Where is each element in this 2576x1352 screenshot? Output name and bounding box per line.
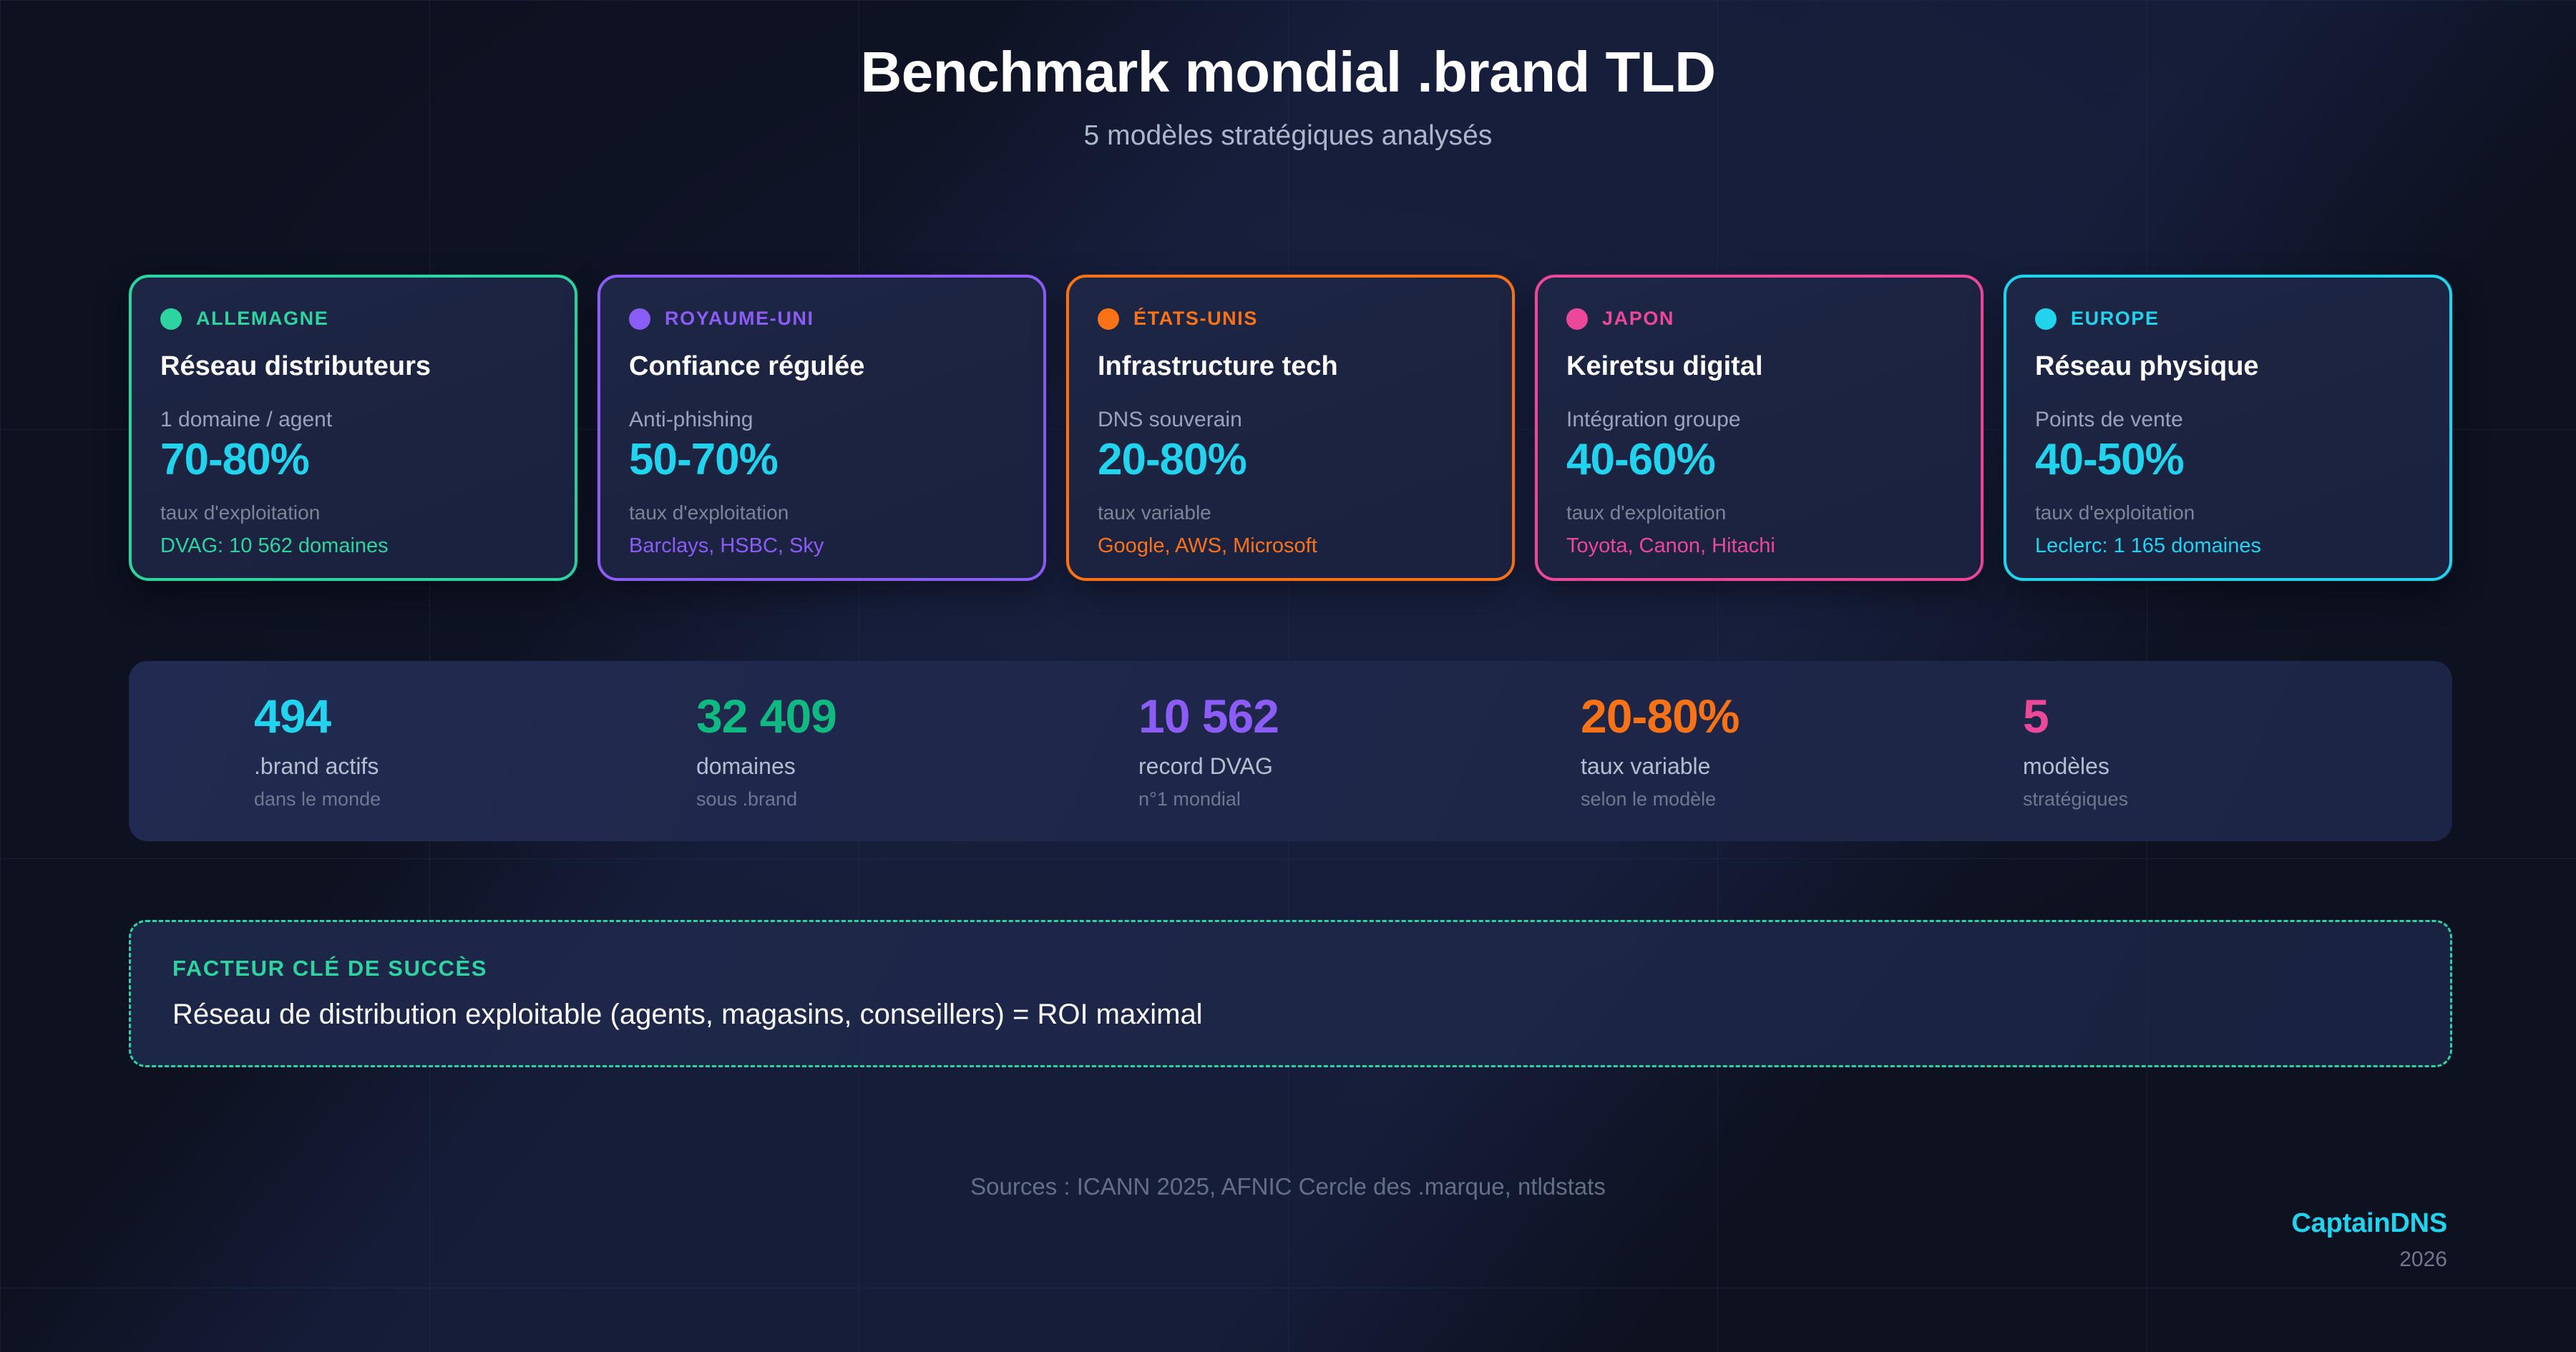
stat-modeles: 5 modèles stratégiques [2023,692,2465,810]
stat-taux-variable: 20-80% taux variable selon le modèle [1581,692,2023,810]
card-country-label: JAPON [1602,308,1674,330]
status-dot-icon [2035,308,2057,330]
sources-note: Sources : ICANN 2025, AFNIC Cercle des .… [0,1173,2576,1200]
country-card-japon[interactable]: JAPON Keiretsu digital Intégration group… [1535,275,1984,581]
stat-sublabel: dans le monde [254,789,696,810]
card-country-label: ÉTATS-UNIS [1133,308,1258,330]
stat-label: domaines [696,754,1138,779]
card-title: Réseau physique [2035,351,2421,382]
page-subtitle: 5 modèles stratégiques analysés [0,120,2576,152]
card-title: Réseau distributeurs [160,351,546,382]
card-subtitle: DNS souverain [1098,408,1483,433]
status-dot-icon [1098,308,1119,330]
card-country-label: ALLEMAGNE [196,308,328,330]
stat-domaines: 32 409 domaines sous .brand [696,692,1138,810]
card-examples: Google, AWS, Microsoft [1098,534,1483,558]
card-examples: DVAG: 10 562 domaines [160,534,546,558]
stat-value: 10 562 [1138,692,1581,740]
stat-value: 20-80% [1581,692,2023,740]
card-header: ALLEMAGNE [160,308,546,330]
stat-sublabel: stratégiques [2023,789,2465,810]
country-cards-row: ALLEMAGNE Réseau distributeurs 1 domaine… [129,275,2452,581]
key-success-factor-box: FACTEUR CLÉ DE SUCCÈS Réseau de distribu… [129,920,2452,1067]
card-title: Infrastructure tech [1098,351,1483,382]
card-examples: Barclays, HSBC, Sky [629,534,1015,558]
country-card-etats-unis[interactable]: ÉTATS-UNIS Infrastructure tech DNS souve… [1066,275,1515,581]
card-country-label: EUROPE [2071,308,2160,330]
key-factor-text: Réseau de distribution exploitable (agen… [172,997,2409,1032]
page-title: Benchmark mondial .brand TLD [0,41,2576,103]
stat-sublabel: sous .brand [696,789,1138,810]
infographic-page: Benchmark mondial .brand TLD 5 modèles s… [0,0,2576,1352]
card-metric-label: taux d'exploitation [160,501,546,524]
card-metric-label: taux variable [1098,501,1483,524]
card-header: EUROPE [2035,308,2421,330]
brand-year: 2026 [2291,1248,2447,1271]
card-title: Keiretsu digital [1566,351,1952,382]
stat-sublabel: n°1 mondial [1138,789,1581,810]
card-metric-label: taux d'exploitation [2035,501,2421,524]
country-card-royaume-uni[interactable]: ROYAUME-UNI Confiance régulée Anti-phish… [597,275,1046,581]
card-country-label: ROYAUME-UNI [665,308,814,330]
card-header: ÉTATS-UNIS [1098,308,1483,330]
status-dot-icon [160,308,182,330]
card-subtitle: Anti-phishing [629,408,1015,433]
card-subtitle: Intégration groupe [1566,408,1952,433]
stat-label: .brand actifs [254,754,696,779]
header: Benchmark mondial .brand TLD 5 modèles s… [0,41,2576,152]
card-header: JAPON [1566,308,1952,330]
card-metric-value: 70-80% [160,436,546,483]
stat-label: record DVAG [1138,754,1581,779]
stat-value: 494 [254,692,696,740]
card-metric-value: 40-50% [2035,436,2421,483]
card-header: ROYAUME-UNI [629,308,1015,330]
card-metric-value: 50-70% [629,436,1015,483]
status-dot-icon [629,308,650,330]
card-examples: Toyota, Canon, Hitachi [1566,534,1952,558]
stat-sublabel: selon le modèle [1581,789,2023,810]
status-dot-icon [1566,308,1588,330]
card-title: Confiance régulée [629,351,1015,382]
country-card-allemagne[interactable]: ALLEMAGNE Réseau distributeurs 1 domaine… [129,275,577,581]
card-subtitle: Points de vente [2035,408,2421,433]
summary-stats-bar: 494 .brand actifs dans le monde 32 409 d… [129,661,2452,841]
stat-brand-actifs: 494 .brand actifs dans le monde [254,692,696,810]
brandmark: CaptainDNS 2026 [2291,1209,2447,1271]
key-factor-label: FACTEUR CLÉ DE SUCCÈS [172,956,2409,981]
stat-record-dvag: 10 562 record DVAG n°1 mondial [1138,692,1581,810]
card-subtitle: 1 domaine / agent [160,408,546,433]
stat-value: 5 [2023,692,2465,740]
card-examples: Leclerc: 1 165 domaines [2035,534,2421,558]
card-metric-value: 20-80% [1098,436,1483,483]
card-metric-label: taux d'exploitation [629,501,1015,524]
stat-label: modèles [2023,754,2465,779]
country-card-europe[interactable]: EUROPE Réseau physique Points de vente 4… [2004,275,2452,581]
card-metric-label: taux d'exploitation [1566,501,1952,524]
card-metric-value: 40-60% [1566,436,1952,483]
stat-label: taux variable [1581,754,2023,779]
stat-value: 32 409 [696,692,1138,740]
brand-name: CaptainDNS [2291,1209,2447,1239]
